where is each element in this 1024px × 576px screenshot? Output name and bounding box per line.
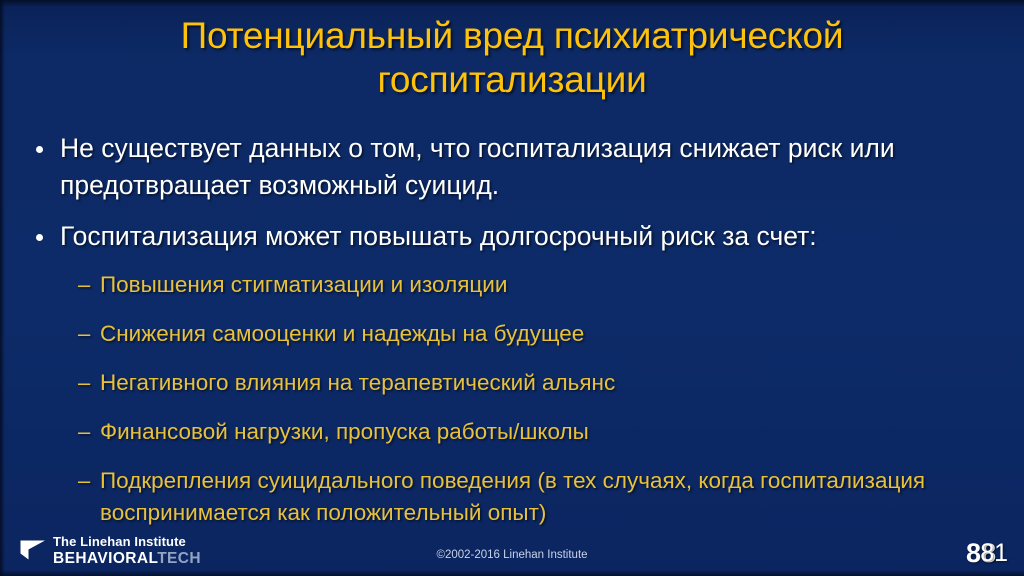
sub-bullet-item: – Негативного влияния на терапевтический… (0, 367, 1024, 399)
slide-title: Потенциальный вред психиатрической госпи… (52, 14, 972, 102)
slide-body: Не существует данных о том, что госпитал… (0, 130, 1024, 546)
bullet-marker-dash-icon: – (78, 416, 100, 448)
bullet-marker-dash-icon: – (78, 318, 100, 350)
slide: Потенциальный вред психиатрической госпи… (0, 0, 1024, 576)
slide-bottom-edge (0, 570, 1024, 576)
bullet-marker-dash-icon: – (78, 269, 100, 301)
logo-institute-name: The Linehan Institute (53, 535, 201, 548)
bullet-text: Госпитализация может повышать долгосрочн… (60, 218, 968, 255)
sub-bullet-text: Повышения стигматизации и изоляции (100, 269, 934, 301)
copyright-text: ©2002-2016 Linehan Institute (0, 549, 1024, 561)
bullet-text: Не существует данных о том, что госпитал… (60, 130, 968, 204)
sub-bullet-text: Негативного влияния на терапевтический а… (100, 367, 934, 399)
bullet-marker-dot-icon (36, 143, 60, 153)
sub-bullet-item: – Финансовой нагрузки, пропуска работы/ш… (0, 416, 1024, 448)
page-number: 88 81 (940, 534, 1010, 568)
bullet-marker-dash-icon: – (78, 367, 100, 399)
sub-bullet-item: – Подкрепления суицидального поведения (… (0, 465, 1024, 529)
bullet-item: Госпитализация может повышать долгосрочн… (0, 218, 1024, 255)
sub-bullet-item: – Повышения стигматизации и изоляции (0, 269, 1024, 301)
sub-bullet-text: Подкрепления суицидального поведения (в … (100, 465, 934, 529)
sub-bullet-item: – Снижения самооценки и надежды на будущ… (0, 318, 1024, 350)
bullet-marker-dot-icon (36, 231, 60, 241)
bullet-item: Не существует данных о том, что госпитал… (0, 130, 1024, 204)
sub-bullet-text: Снижения самооценки и надежды на будущее (100, 318, 934, 350)
sub-bullet-text: Финансовой нагрузки, пропуска работы/шко… (100, 416, 934, 448)
slide-top-edge (0, 0, 1024, 7)
bullet-marker-dash-icon: – (78, 465, 100, 497)
page-number-overlay: 81 (980, 538, 1008, 568)
